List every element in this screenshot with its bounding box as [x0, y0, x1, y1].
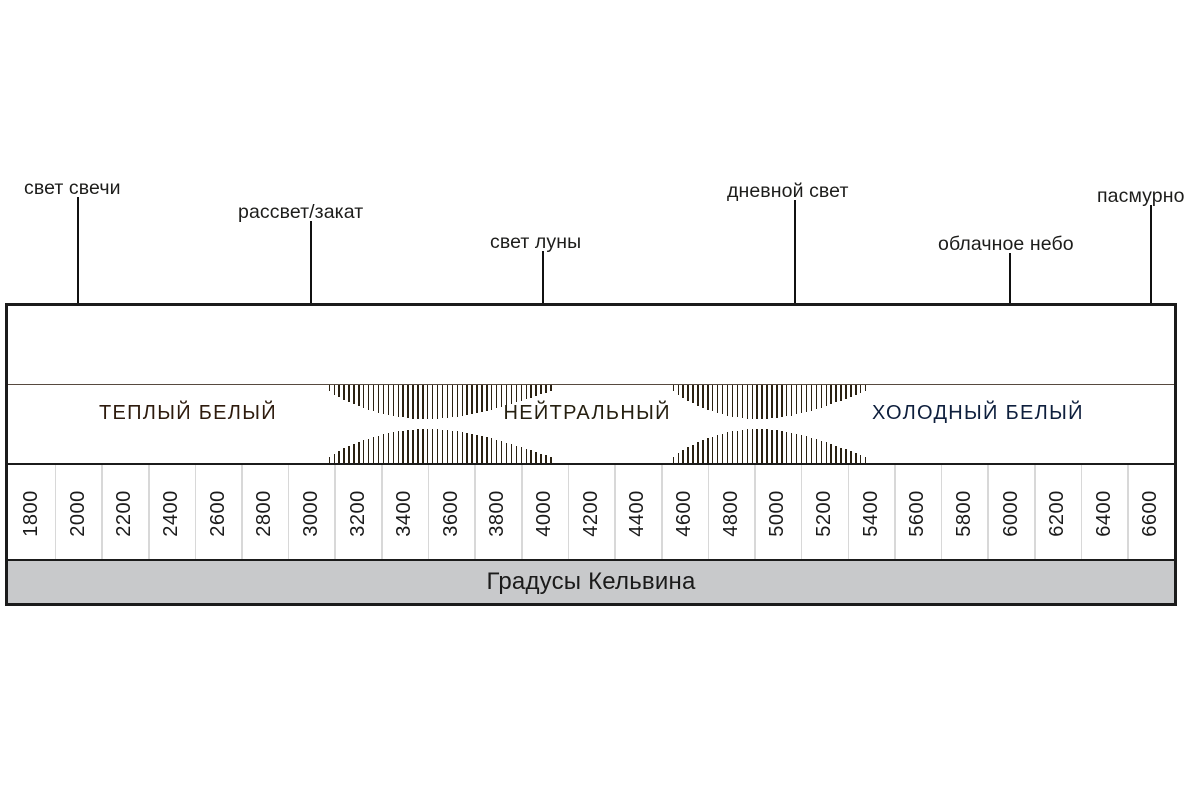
kelvin-tick-label: 4000 [533, 490, 556, 537]
strip-divider [8, 384, 1174, 385]
kelvin-tick-separator [894, 465, 896, 559]
kelvin-tick-separator [381, 465, 383, 559]
kelvin-tick-separator [1081, 465, 1083, 559]
kelvin-tick-separator [521, 465, 523, 559]
kelvin-tick-1800: 1800 [8, 469, 55, 557]
kelvin-tick-4800: 4800 [708, 469, 755, 557]
color-temperature-chart: свет свечирассвет/закатсвет луныдневной … [0, 0, 1200, 800]
kelvin-tick-separator [1034, 465, 1036, 559]
kelvin-tick-label: 4600 [673, 490, 696, 537]
callout-label-0: свет свечи [24, 177, 121, 200]
callout-label-5: пасмурно [1097, 185, 1185, 208]
kelvin-tick-separator [1127, 465, 1129, 559]
kelvin-tick-separator [801, 465, 803, 559]
kelvin-tick-4000: 4000 [521, 469, 568, 557]
kelvin-tick-label: 3200 [346, 490, 369, 537]
kelvin-tick-label: 6400 [1093, 490, 1116, 537]
kelvin-tick-separator [55, 465, 57, 559]
kelvin-tick-separator [241, 465, 243, 559]
kelvin-tick-separator [101, 465, 103, 559]
kelvin-tick-label: 2000 [66, 490, 89, 537]
kelvin-tick-separator [288, 465, 290, 559]
kelvin-tick-label: 5000 [766, 490, 789, 537]
kelvin-tick-label: 6600 [1139, 490, 1162, 537]
kelvin-tick-label: 5400 [859, 490, 882, 537]
kelvin-tick-5800: 5800 [941, 469, 988, 557]
kelvin-tick-5400: 5400 [848, 469, 895, 557]
kelvin-tick-2000: 2000 [55, 469, 102, 557]
kelvin-tick-label: 6200 [1046, 490, 1069, 537]
kelvin-tick-separator [614, 465, 616, 559]
kelvin-tick-5000: 5000 [754, 469, 801, 557]
comb-neutral-cool-top [673, 385, 865, 425]
kelvin-tick-label: 5600 [906, 490, 929, 537]
kelvin-tick-2400: 2400 [148, 469, 195, 557]
kelvin-tick-separator [568, 465, 570, 559]
kelvin-tick-6200: 6200 [1034, 469, 1081, 557]
kelvin-tick-3600: 3600 [428, 469, 475, 557]
kelvin-tick-label: 4200 [579, 490, 602, 537]
kelvin-tick-label: 3400 [393, 490, 416, 537]
kelvin-tick-5600: 5600 [894, 469, 941, 557]
kelvin-tick-separator [474, 465, 476, 559]
kelvin-tick-separator [148, 465, 150, 559]
kelvin-tick-6600: 6600 [1127, 469, 1174, 557]
kelvin-tick-separator [428, 465, 430, 559]
band-label-cool-white: ХОЛОДНЫЙ БЕЛЫЙ [872, 402, 1084, 425]
kelvin-tick-separator [334, 465, 336, 559]
kelvin-tick-2600: 2600 [195, 469, 242, 557]
kelvin-tick-4200: 4200 [568, 469, 615, 557]
comb-warm-neutral-bottom [329, 423, 551, 463]
comb-neutral-cool-bottom [673, 423, 865, 463]
kelvin-tick-separator [661, 465, 663, 559]
chart-frame: ТЕПЛЫЙ БЕЛЫЙ НЕЙТРАЛЬНЫЙ ХОЛОДНЫЙ БЕЛЫЙ … [5, 303, 1177, 606]
kelvin-tick-label: 2600 [206, 490, 229, 537]
kelvin-tick-3800: 3800 [474, 469, 521, 557]
kelvin-tick-label: 2200 [113, 490, 136, 537]
kelvin-tick-label: 6000 [999, 490, 1022, 537]
kelvin-tick-label: 2400 [160, 490, 183, 537]
kelvin-tick-label: 5800 [953, 490, 976, 537]
kelvin-tick-separator [941, 465, 943, 559]
gradient-strip: ТЕПЛЫЙ БЕЛЫЙ НЕЙТРАЛЬНЫЙ ХОЛОДНЫЙ БЕЛЫЙ [8, 306, 1174, 463]
callout-label-3: дневной свет [727, 180, 849, 203]
kelvin-tick-separator [987, 465, 989, 559]
kelvin-tick-label: 3800 [486, 490, 509, 537]
kelvin-tick-3000: 3000 [288, 469, 335, 557]
kelvin-tick-separator [848, 465, 850, 559]
kelvin-tick-label: 4400 [626, 490, 649, 537]
kelvin-axis-label: Градусы Кельвина [487, 568, 696, 596]
kelvin-axis-bar: Градусы Кельвина [8, 561, 1174, 603]
gradient-upper-row [8, 306, 1174, 384]
kelvin-tick-separator [708, 465, 710, 559]
kelvin-tick-4600: 4600 [661, 469, 708, 557]
kelvin-tick-2200: 2200 [101, 469, 148, 557]
callout-label-1: рассвет/закат [238, 201, 363, 224]
kelvin-tick-label: 4800 [719, 490, 742, 537]
kelvin-tick-5200: 5200 [801, 469, 848, 557]
band-label-neutral: НЕЙТРАЛЬНЫЙ [504, 402, 671, 425]
kelvin-tick-label: 3600 [440, 490, 463, 537]
kelvin-tick-label: 3000 [300, 490, 323, 537]
callout-label-4: облачное небо [938, 233, 1074, 256]
kelvin-tick-separator [754, 465, 756, 559]
callout-label-2: свет луны [490, 231, 581, 254]
kelvin-tick-label: 2800 [253, 490, 276, 537]
kelvin-tick-6000: 6000 [987, 469, 1034, 557]
kelvin-tick-2800: 2800 [241, 469, 288, 557]
band-label-warm-white: ТЕПЛЫЙ БЕЛЫЙ [99, 402, 277, 425]
kelvin-tick-3200: 3200 [334, 469, 381, 557]
kelvin-tick-4400: 4400 [614, 469, 661, 557]
kelvin-tick-label: 5200 [813, 490, 836, 537]
kelvin-scale-row: 1800200022002400260028003000320034003600… [8, 463, 1174, 561]
kelvin-tick-6400: 6400 [1081, 469, 1128, 557]
kelvin-tick-separator [195, 465, 197, 559]
kelvin-tick-3400: 3400 [381, 469, 428, 557]
kelvin-tick-label: 1800 [20, 490, 43, 537]
